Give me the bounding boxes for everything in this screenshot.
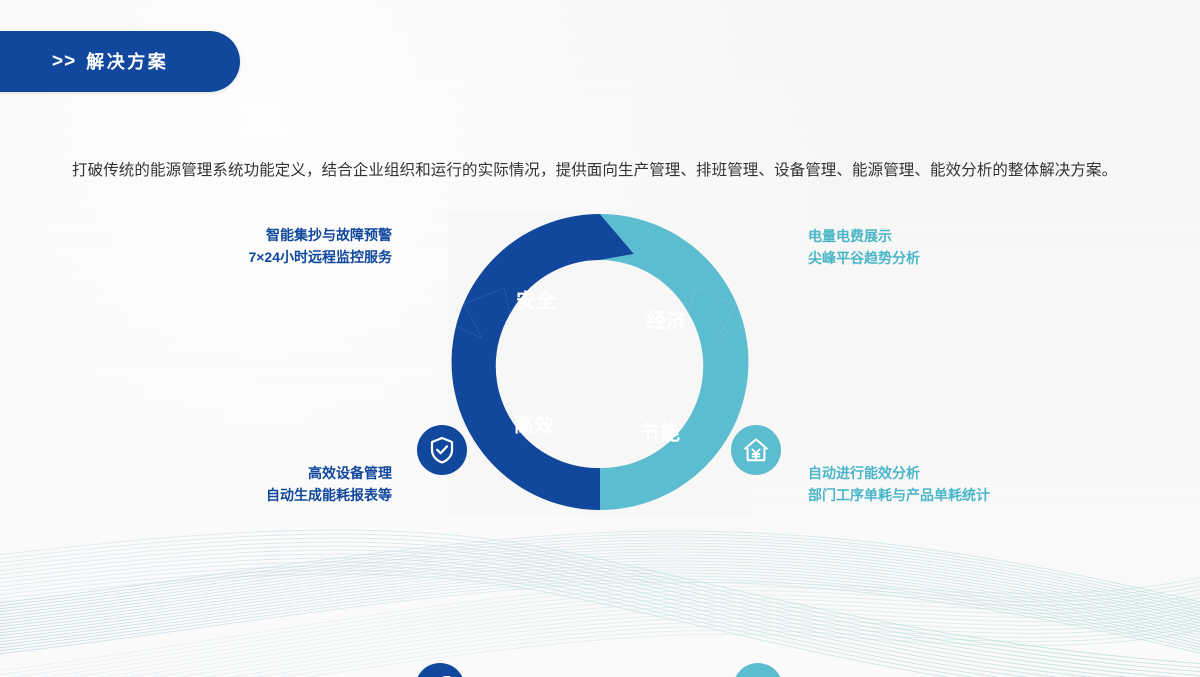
wave-band-b — [0, 530, 1200, 677]
callout-text-top-right: 电量电费展示 尖峰平谷趋势分析 — [808, 225, 920, 269]
callout-line: 7×24小时远程监控服务 — [248, 246, 392, 268]
page-title: 解决方案 — [86, 53, 168, 71]
shield-check-icon — [429, 436, 455, 464]
callout-line: 高效设备管理 — [266, 462, 392, 484]
callout-line: 部门工序单耗与产品单耗统计 — [808, 484, 990, 506]
callout-line: 自动进行能效分析 — [808, 462, 990, 484]
callout-line: 智能集抄与故障预警 — [248, 224, 392, 246]
section-header-banner: >> 解决方案 — [0, 31, 240, 92]
callout-text-bottom-right: 自动进行能效分析 部门工序单耗与产品单耗统计 — [808, 462, 990, 506]
segment-label-economy: 经济 — [646, 308, 687, 332]
callout-icon-house-yuan — [731, 425, 781, 475]
segment-label-saving: 节能 — [640, 420, 680, 444]
solution-cycle-diagram: 安全 经济 节能 高效 — [0, 200, 1200, 540]
callout-line: 尖峰平谷趋势分析 — [808, 247, 920, 269]
cycle-donut-chart: 安全 经济 节能 高效 — [448, 210, 752, 514]
house-yuan-icon — [742, 436, 770, 464]
callout-line: 电量电费展示 — [808, 225, 920, 247]
callout-text-top-left: 智能集抄与故障预警 7×24小时远程监控服务 — [248, 224, 392, 268]
chevron-right-double-icon: >> — [52, 52, 76, 71]
callout-line: 自动生成能耗报表等 — [266, 484, 392, 506]
callout-icon-leaf — [733, 663, 783, 677]
callout-icon-shield — [417, 425, 467, 475]
segment-label-efficiency: 高效 — [514, 412, 554, 436]
wave-band-a — [0, 531, 1200, 658]
segment-label-safety: 安全 — [516, 288, 557, 312]
callout-text-bottom-left: 高效设备管理 自动生成能耗报表等 — [266, 462, 392, 506]
wave-band-c — [0, 573, 1200, 677]
slide-canvas: >> 解决方案 打破传统的能源管理系统功能定义，结合企业组织和运行的实际情况，提… — [0, 0, 1200, 677]
intro-paragraph: 打破传统的能源管理系统功能定义，结合企业组织和运行的实际情况，提供面向生产管理、… — [72, 156, 1130, 185]
callout-icon-rocket — [415, 663, 465, 677]
